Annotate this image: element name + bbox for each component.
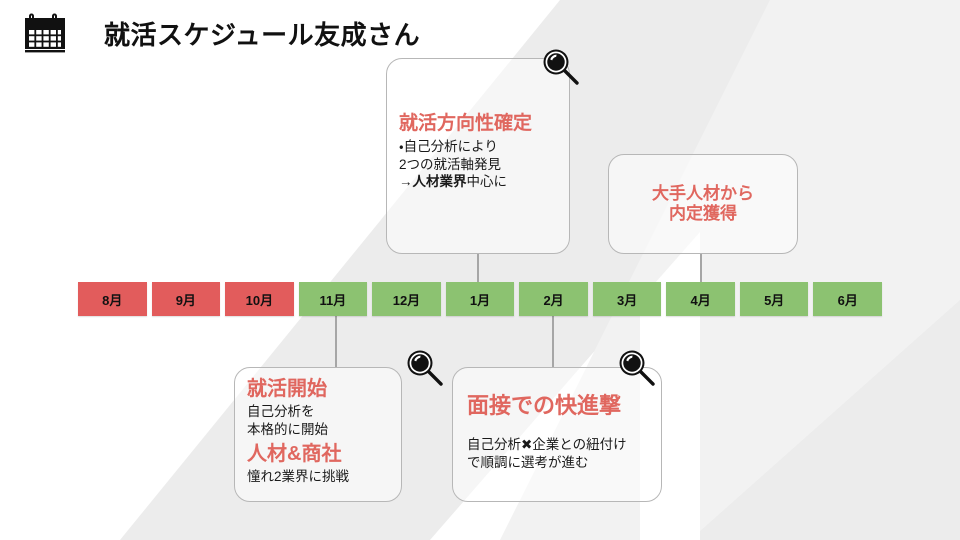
callout-offer-line1: 大手人材から	[652, 184, 754, 204]
callout-interview-line1: 自己分析✖企業との紐付け	[467, 436, 661, 454]
month-cell-4[interactable]: 4月	[666, 282, 735, 316]
callout-start-line3: 憧れ2業界に挑戦	[247, 468, 401, 486]
month-cell-8[interactable]: 8月	[78, 282, 147, 316]
callout-direction-line3: →人材業界中心に	[399, 173, 569, 191]
callout-offer-line2: 内定獲得	[652, 204, 754, 224]
callout-direction-line3-prefix: →	[399, 174, 413, 189]
month-cell-10[interactable]: 10月	[225, 282, 294, 316]
callout-direction-line2: 2つの就活軸発見	[399, 156, 569, 174]
callout-offer[interactable]: 大手人材から 内定獲得	[608, 154, 798, 254]
connector-offer-to-april	[700, 254, 702, 282]
magnifier-icon-direction[interactable]	[541, 47, 581, 87]
callout-direction-line3-bold: 人材業界	[413, 174, 467, 189]
callout-interview-line2: で順調に選考が進む	[467, 454, 661, 472]
month-cell-11[interactable]: 11月	[299, 282, 368, 316]
callout-direction-heading: 就活方向性確定	[399, 113, 569, 135]
callout-direction[interactable]: 就活方向性確定 ・自己分析により 2つの就活軸発見 →人材業界中心に	[386, 58, 570, 254]
slide-canvas: 就活スケジュール友成さん 8月 9月 10月 11月 12月 1月 2月 3月 …	[0, 0, 960, 540]
callout-offer-heading: 大手人材から 内定獲得	[652, 184, 754, 223]
slide-header: 就活スケジュール友成さん	[22, 10, 420, 56]
callout-start-body-1: 自己分析を 本格的に開始	[247, 403, 401, 439]
month-cell-9[interactable]: 9月	[152, 282, 221, 316]
callout-start-content: 就活開始 自己分析を 本格的に開始 人材&商社 憧れ2業界に挑戦	[235, 378, 401, 511]
callout-start-line1: 自己分析を	[247, 403, 401, 421]
callout-direction-body: ・自己分析により 2つの就活軸発見 →人材業界中心に	[399, 138, 569, 191]
callout-interview-heading: 面接での快進撃	[467, 393, 661, 418]
magnifier-icon-start[interactable]	[405, 348, 445, 388]
connector-february-to-interview	[552, 316, 554, 367]
callout-direction-content: 就活方向性確定 ・自己分析により 2つの就活軸発見 →人材業界中心に	[387, 113, 569, 307]
month-cell-3[interactable]: 3月	[593, 282, 662, 316]
month-cell-5[interactable]: 5月	[740, 282, 809, 316]
callout-interview-body: 自己分析✖企業との紐付け で順調に選考が進む	[467, 436, 661, 472]
connector-november-to-start	[335, 316, 337, 367]
magnifier-icon-interview[interactable]	[617, 348, 657, 388]
callout-start-heading-1: 就活開始	[247, 378, 401, 401]
callout-start-heading-2: 人材&商社	[247, 443, 401, 466]
callout-direction-line3-suffix: 中心に	[467, 174, 508, 189]
callout-interview-content: 面接での快進撃 自己分析✖企業との紐付け で順調に選考が進む	[453, 393, 661, 526]
calendar-icon	[22, 10, 68, 56]
callout-start-line2: 本格的に開始	[247, 421, 401, 439]
callout-direction-line1: ・自己分析により	[399, 138, 569, 156]
page-title: 就活スケジュール友成さん	[104, 15, 420, 52]
callout-start[interactable]: 就活開始 自己分析を 本格的に開始 人材&商社 憧れ2業界に挑戦	[234, 367, 402, 502]
month-cell-6[interactable]: 6月	[813, 282, 882, 316]
